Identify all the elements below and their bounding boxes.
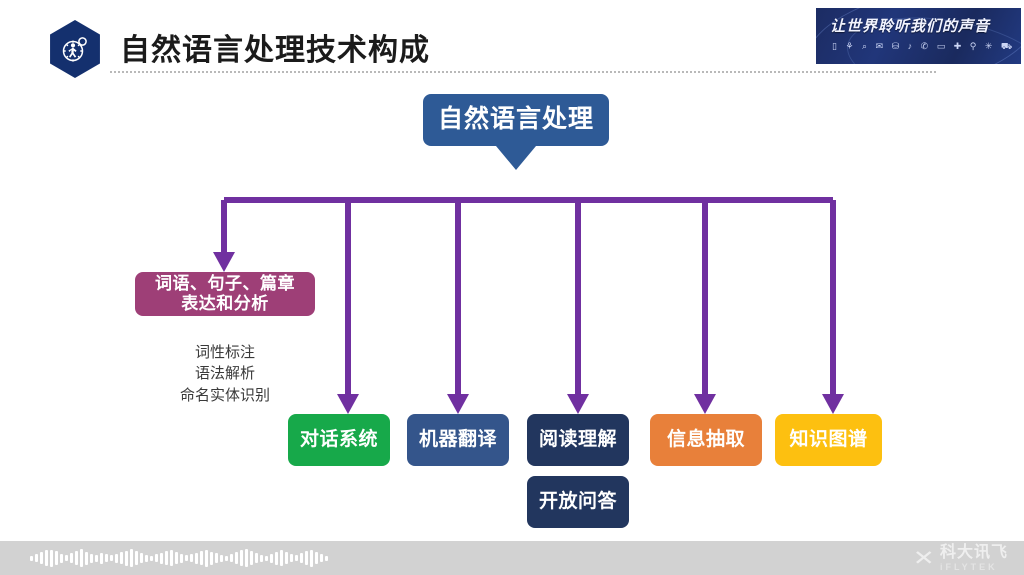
- slide-canvas: 自然语言处理技术构成 让世界聆听我们的声音 ▯ ⚘ ⌕ ✉ ⛁ ♪ ✆ ▭ ✚ …: [0, 0, 1024, 575]
- waveform-bar: [135, 551, 138, 565]
- iflytek-logo-cn: 科大讯飞: [940, 545, 1008, 561]
- waveform-bar: [310, 550, 313, 567]
- node-root[interactable]: 自然语言处理: [423, 94, 609, 146]
- waveform-bar: [45, 550, 48, 566]
- waveform-bar: [190, 554, 193, 562]
- waveform-bar: [220, 555, 223, 562]
- waveform-bar: [215, 553, 218, 563]
- waveform-bar: [185, 555, 188, 561]
- waveform-bar: [75, 551, 78, 565]
- waveform-bar: [225, 556, 228, 561]
- iflytek-logo-en: iFLYTEK: [940, 563, 1008, 572]
- waveform-bar: [325, 556, 328, 561]
- branch-arrow-icon: [213, 252, 235, 272]
- banner-slogan: 让世界聆听我们的声音: [830, 15, 1013, 36]
- waveform-bar: [245, 549, 248, 567]
- waveform-bar: [305, 551, 308, 565]
- iflytek-logo: ✕ 科大讯飞 iFLYTEK: [915, 545, 1008, 571]
- waveform-bar: [80, 549, 83, 567]
- title-divider: [110, 71, 936, 73]
- brand-banner: 让世界聆听我们的声音 ▯ ⚘ ⌕ ✉ ⛁ ♪ ✆ ▭ ✚ ⚲ ✳ ⛟ ▤: [816, 8, 1021, 64]
- branch-arrow-icon: [694, 394, 716, 414]
- waveform-bar: [195, 553, 198, 564]
- root-arrow-icon: [496, 146, 536, 170]
- node-branch-expression-analysis[interactable]: 词语、句子、篇章 表达和分析: [135, 272, 315, 316]
- waveform-bar: [315, 552, 318, 564]
- waveform-bar: [295, 555, 298, 561]
- node-leaf-knowledge-graph[interactable]: 知识图谱: [775, 414, 882, 466]
- waveform-bar: [95, 555, 98, 562]
- waveform-bar: [170, 550, 173, 566]
- waveform-bar: [120, 552, 123, 564]
- header-hexagon-badge: [46, 20, 104, 78]
- node-leaf-machine-translation[interactable]: 机器翻译: [407, 414, 509, 466]
- waveform-bar: [230, 554, 233, 562]
- waveform-bar: [60, 554, 63, 563]
- node-leaf-open-qa[interactable]: 开放问答: [527, 476, 629, 528]
- waveform-bar: [35, 554, 38, 562]
- waveform-bar: [115, 554, 118, 563]
- waveform-bar: [165, 551, 168, 565]
- waveform-bar: [240, 550, 243, 566]
- waveform-bar: [50, 550, 53, 567]
- waveform-bar: [55, 551, 58, 565]
- waveform-bar: [250, 551, 253, 565]
- waveform-bar: [85, 552, 88, 565]
- waveform-bar: [235, 552, 238, 564]
- waveform-bar: [210, 552, 213, 565]
- audio-waveform-icon: [30, 548, 328, 568]
- person-in-gear-hexagon-icon: [46, 20, 104, 78]
- branch-arrow-icon: [447, 394, 469, 414]
- waveform-bar: [65, 555, 68, 561]
- page-title: 自然语言处理技术构成: [120, 25, 430, 69]
- waveform-bar: [270, 554, 273, 563]
- waveform-bar: [110, 555, 113, 561]
- node-leaf-reading-comprehension[interactable]: 阅读理解: [527, 414, 629, 466]
- waveform-bar: [105, 554, 108, 562]
- waveform-bar: [320, 554, 323, 562]
- waveform-bar: [30, 556, 33, 561]
- waveform-bar: [140, 553, 143, 563]
- waveform-bar: [145, 555, 148, 562]
- waveform-bar: [265, 556, 268, 561]
- node-leaf-information-extraction[interactable]: 信息抽取: [650, 414, 762, 466]
- iflytek-mark-icon: ✕: [913, 548, 935, 569]
- waveform-bar: [175, 552, 178, 564]
- waveform-bar: [40, 552, 43, 564]
- waveform-bar: [70, 553, 73, 563]
- waveform-bar: [275, 552, 278, 565]
- branch-arrow-icon: [567, 394, 589, 414]
- banner-icon-row: ▯ ⚘ ⌕ ✉ ⛁ ♪ ✆ ▭ ✚ ⚲ ✳ ⛟ ▤: [832, 41, 1013, 53]
- waveform-bar: [130, 549, 133, 567]
- waveform-bar: [125, 551, 128, 566]
- iflytek-logo-names: 科大讯飞 iFLYTEK: [940, 545, 1008, 572]
- waveform-bar: [205, 550, 208, 567]
- branch-sub-items-expression-analysis: 词性标注 语法解析 命名实体识别: [134, 342, 316, 406]
- waveform-bar: [100, 553, 103, 564]
- waveform-bar: [180, 554, 183, 563]
- waveform-bar: [300, 553, 303, 563]
- waveform-bar: [90, 554, 93, 563]
- branch-arrow-icon: [822, 394, 844, 414]
- waveform-bar: [260, 555, 263, 562]
- waveform-bar: [155, 554, 158, 562]
- waveform-bar: [285, 552, 288, 564]
- slide-footer: ✕ 科大讯飞 iFLYTEK: [0, 541, 1024, 575]
- waveform-bar: [290, 554, 293, 562]
- waveform-bar: [150, 556, 153, 561]
- branch-arrow-icon: [337, 394, 359, 414]
- waveform-bar: [280, 550, 283, 566]
- waveform-bar: [255, 553, 258, 563]
- waveform-bar: [200, 551, 203, 565]
- waveform-bar: [160, 553, 163, 564]
- node-leaf-dialogue-system[interactable]: 对话系统: [288, 414, 390, 466]
- nlp-technology-tree-diagram: 自然语言处理 词语、句子、篇章 表达和分析 词性标注 语法解析 命名实体识别 对…: [0, 84, 1024, 534]
